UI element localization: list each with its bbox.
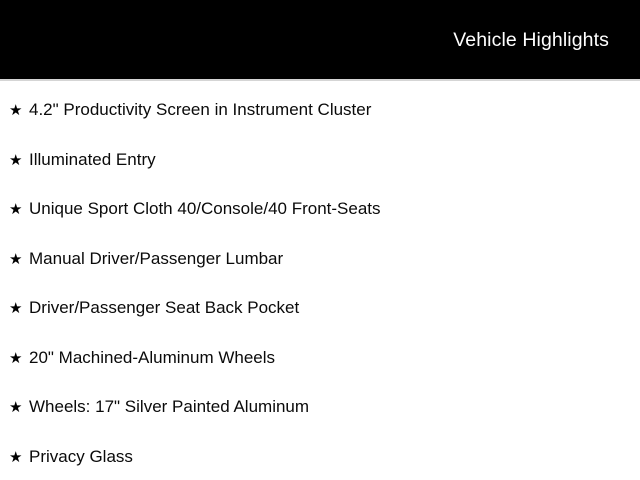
list-item-label: Illuminated Entry [29,151,156,168]
list-item-label: Unique Sport Cloth 40/Console/40 Front-S… [29,200,381,217]
star-icon: ★ [9,153,29,168]
page-title: Vehicle Highlights [453,28,640,52]
star-icon: ★ [9,301,29,316]
list-item: ★ Driver/Passenger Seat Back Pocket [0,281,640,331]
list-item: ★ 20" Machined-Aluminum Wheels [0,331,640,381]
star-icon: ★ [9,252,29,267]
list-item-label: Wheels: 17" Silver Painted Aluminum [29,398,309,415]
vehicle-highlights-list: ★ 4.2" Productivity Screen in Instrument… [0,83,640,479]
list-item-label: Privacy Glass [29,448,133,465]
list-item: ★ Manual Driver/Passenger Lumbar [0,232,640,282]
list-item: ★ 4.2" Productivity Screen in Instrument… [0,83,640,133]
list-item-label: 20" Machined-Aluminum Wheels [29,349,275,366]
star-icon: ★ [9,351,29,366]
star-icon: ★ [9,400,29,415]
star-icon: ★ [9,450,29,465]
vehicle-highlights-page: Vehicle Highlights ★ 4.2" Productivity S… [0,0,640,480]
list-item: ★ Illuminated Entry [0,133,640,183]
list-item-label: Driver/Passenger Seat Back Pocket [29,299,299,316]
list-item-label: Manual Driver/Passenger Lumbar [29,250,283,267]
star-icon: ★ [9,202,29,217]
list-item: ★ Unique Sport Cloth 40/Console/40 Front… [0,182,640,232]
star-icon: ★ [9,103,29,118]
list-item: ★ Wheels: 17" Silver Painted Aluminum [0,380,640,430]
page-header: Vehicle Highlights [0,0,640,81]
list-item-label: 4.2" Productivity Screen in Instrument C… [29,101,371,118]
list-item: ★ Privacy Glass [0,430,640,480]
